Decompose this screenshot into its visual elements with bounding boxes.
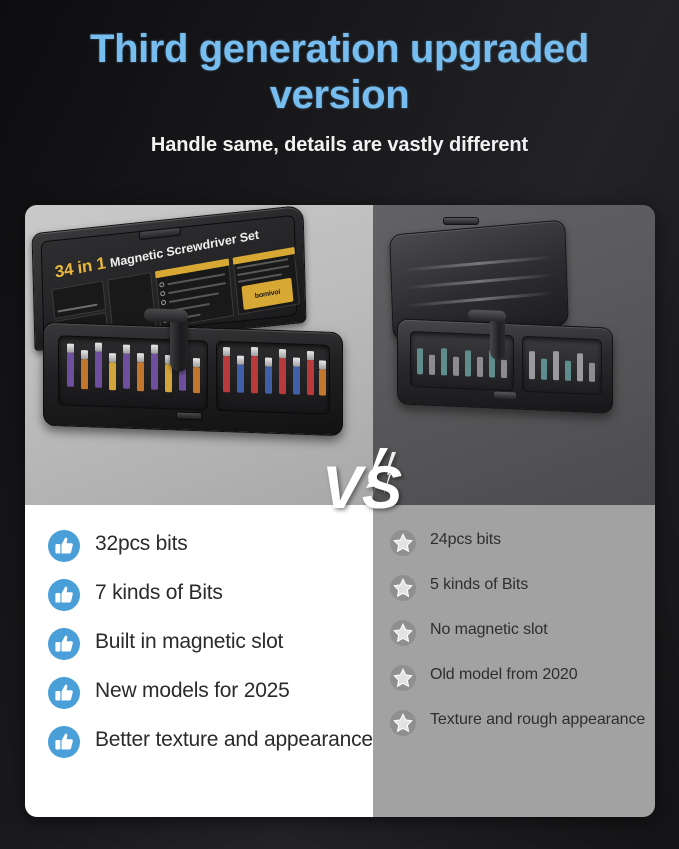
list-item-label: Built in magnetic slot: [95, 625, 283, 654]
new-product-feature-list: 32pcs bits 7 kinds of Bits: [25, 505, 373, 817]
new-product-photo: 34 in 1 Magnetic Screwdriver Set: [25, 205, 373, 505]
page-subtitle: Handle same, details are vastly differen…: [0, 134, 679, 157]
old-product-column: 24pcs bits 5 kinds of Bits: [373, 205, 655, 817]
screwdriver-handle: [170, 313, 188, 372]
list-item: Texture and rough appearance: [373, 707, 655, 737]
page-title: Third generation upgraded version: [0, 0, 679, 118]
old-product-feature-list: 24pcs bits 5 kinds of Bits: [373, 505, 655, 817]
list-item-label: 7 kinds of Bits: [95, 576, 223, 605]
comparison-card: 34 in 1 Magnetic Screwdriver Set: [25, 205, 655, 817]
thumbs-up-icon: [47, 578, 81, 612]
list-item-label: 5 kinds of Bits: [430, 572, 528, 595]
list-item: 7 kinds of Bits: [25, 576, 373, 612]
star-icon: [389, 574, 417, 602]
list-item: 24pcs bits: [373, 527, 655, 557]
new-product-column: 34 in 1 Magnetic Screwdriver Set: [25, 205, 373, 817]
list-item: Built in magnetic slot: [25, 625, 373, 661]
old-case-latch: [494, 392, 516, 400]
star-icon: [389, 709, 417, 737]
star-icon: [389, 529, 417, 557]
case-latch: [176, 411, 202, 420]
list-item: New models for 2025: [25, 674, 373, 710]
list-item-label: Better texture and appearance: [95, 723, 373, 752]
list-item-label: 24pcs bits: [430, 527, 501, 550]
thumbs-up-icon: [47, 725, 81, 759]
thumbs-up-icon: [47, 627, 81, 661]
header: Third generation upgraded version Handle…: [0, 0, 679, 182]
list-item: Old model from 2020: [373, 662, 655, 692]
lid-count-label: 34 in 1: [54, 253, 107, 281]
brand-label: bomivoi: [255, 288, 281, 299]
case-base: [43, 322, 343, 436]
old-product-photo: [373, 205, 655, 505]
list-item: Better texture and appearance: [25, 723, 373, 759]
list-item-label: 32pcs bits: [95, 527, 188, 556]
thumbs-up-icon: [47, 529, 81, 563]
list-item-label: Old model from 2020: [430, 662, 578, 685]
bit-tray-right: [216, 341, 330, 415]
list-item: No magnetic slot: [373, 617, 655, 647]
old-screwdriver-handle: [490, 313, 505, 360]
old-case-hinge: [443, 217, 479, 225]
old-case-base: [397, 318, 613, 413]
list-item-label: Texture and rough appearance: [430, 707, 645, 730]
star-icon: [389, 619, 417, 647]
thumbs-up-icon: [47, 676, 81, 710]
list-item-label: No magnetic slot: [430, 617, 548, 640]
infographic-page: Third generation upgraded version Handle…: [0, 0, 679, 849]
list-item-label: New models for 2025: [95, 674, 290, 703]
star-icon: [389, 664, 417, 692]
list-item: 5 kinds of Bits: [373, 572, 655, 602]
list-item: 32pcs bits: [25, 527, 373, 563]
old-bit-tray-right: [522, 336, 602, 395]
